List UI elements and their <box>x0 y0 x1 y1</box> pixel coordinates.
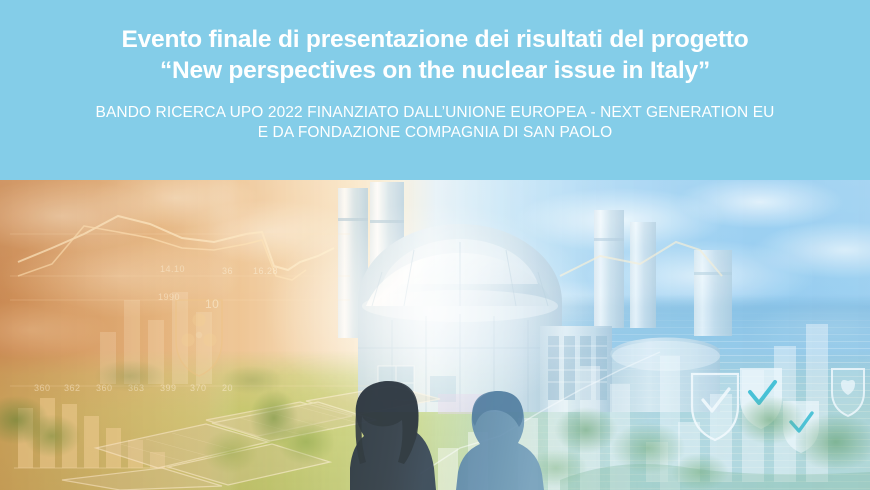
page-title-line-1: Evento finale di presentazione dei risul… <box>121 24 748 55</box>
subtitle-block: BANDO RICERCA UPO 2022 FINANZIATO DALL’U… <box>96 103 775 143</box>
viewer-figures <box>0 180 870 490</box>
subtitle-line-1: BANDO RICERCA UPO 2022 FINANZIATO DALL’U… <box>96 103 775 123</box>
man-silhouette <box>456 391 544 490</box>
hero-illustration: 1990 10 14.10 36 16.28 360 362 360 363 3… <box>0 180 870 490</box>
subtitle-line-2: E DA FONDAZIONE COMPAGNIA DI SAN PAOLO <box>96 123 775 143</box>
page-title-line-2: “New perspectives on the nuclear issue i… <box>160 55 710 86</box>
woman-silhouette <box>350 381 436 490</box>
header-banner: Evento finale di presentazione dei risul… <box>0 0 870 180</box>
poster-root: Evento finale di presentazione dei risul… <box>0 0 870 490</box>
